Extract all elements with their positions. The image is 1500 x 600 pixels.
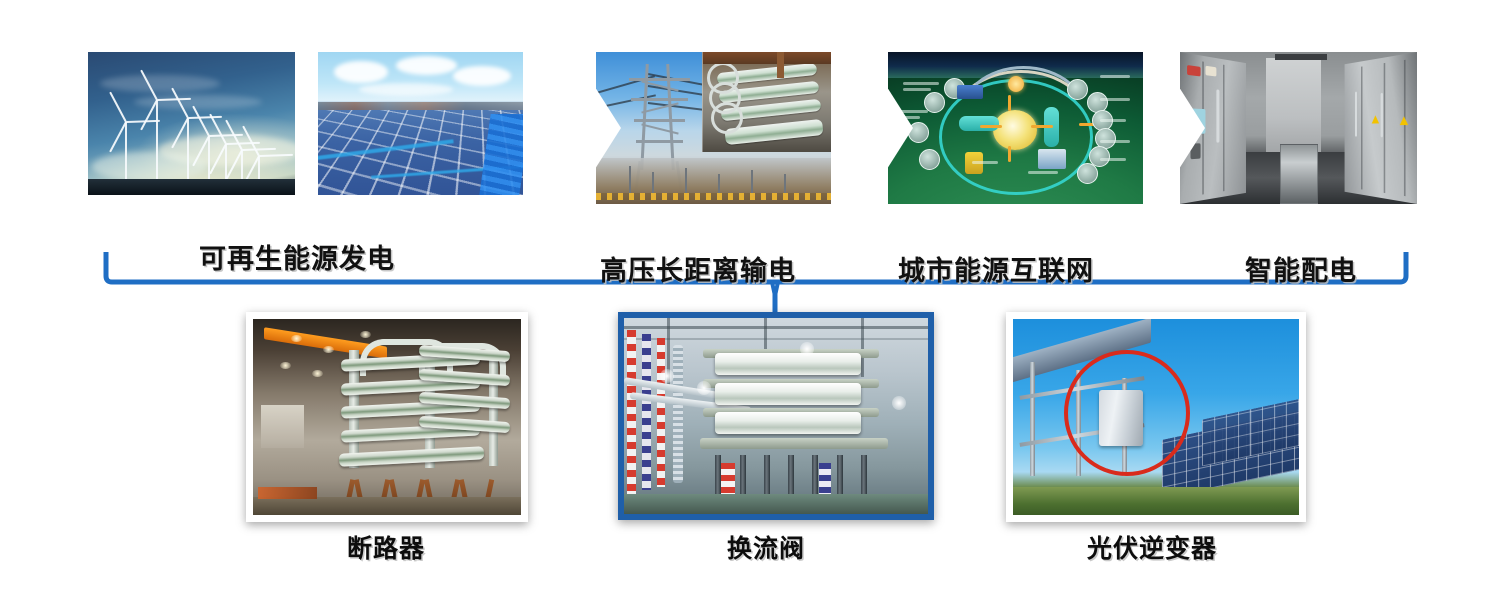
switchgear-scene xyxy=(1180,52,1417,204)
bottom-label-inverter: 光伏逆变器 xyxy=(1087,529,1217,565)
bottom-label-converter: 换流阀 xyxy=(727,529,805,565)
transmission-scene xyxy=(596,52,831,204)
stage-label-urban: 城市能源互联网 xyxy=(898,249,1094,288)
inverter-scene xyxy=(1013,319,1299,515)
photo-solar-farm[interactable] xyxy=(318,52,523,195)
photo-pv-inverter[interactable] xyxy=(1006,312,1306,522)
inset-valve-hall-photo xyxy=(702,52,831,152)
wind-sky xyxy=(88,52,295,195)
stage-label-distribution: 智能配电 xyxy=(1245,249,1357,288)
breaker-scene xyxy=(253,319,521,515)
stage-label-transmission: 高压长距离输电 xyxy=(600,249,796,288)
photo-circuit-breaker[interactable] xyxy=(246,312,528,522)
photo-wind-farm[interactable] xyxy=(88,52,295,195)
photo-transmission-tower[interactable] xyxy=(596,52,831,204)
energy-internet-scene xyxy=(888,52,1143,204)
substation-yard xyxy=(596,158,831,204)
stage-label-renewable: 可再生能源发电 xyxy=(199,237,395,276)
converter-scene xyxy=(624,318,928,514)
photo-converter-valve[interactable] xyxy=(618,312,934,520)
photo-energy-internet-diagram[interactable] xyxy=(888,52,1143,204)
bottom-label-breaker: 断路器 xyxy=(347,529,425,565)
diagram-canvas: 可再生能源发电 高压长距离输电 城市能源互联网 智能配电 xyxy=(0,0,1500,600)
solar-scene xyxy=(318,52,523,195)
photo-switchgear-room[interactable] xyxy=(1180,52,1417,204)
